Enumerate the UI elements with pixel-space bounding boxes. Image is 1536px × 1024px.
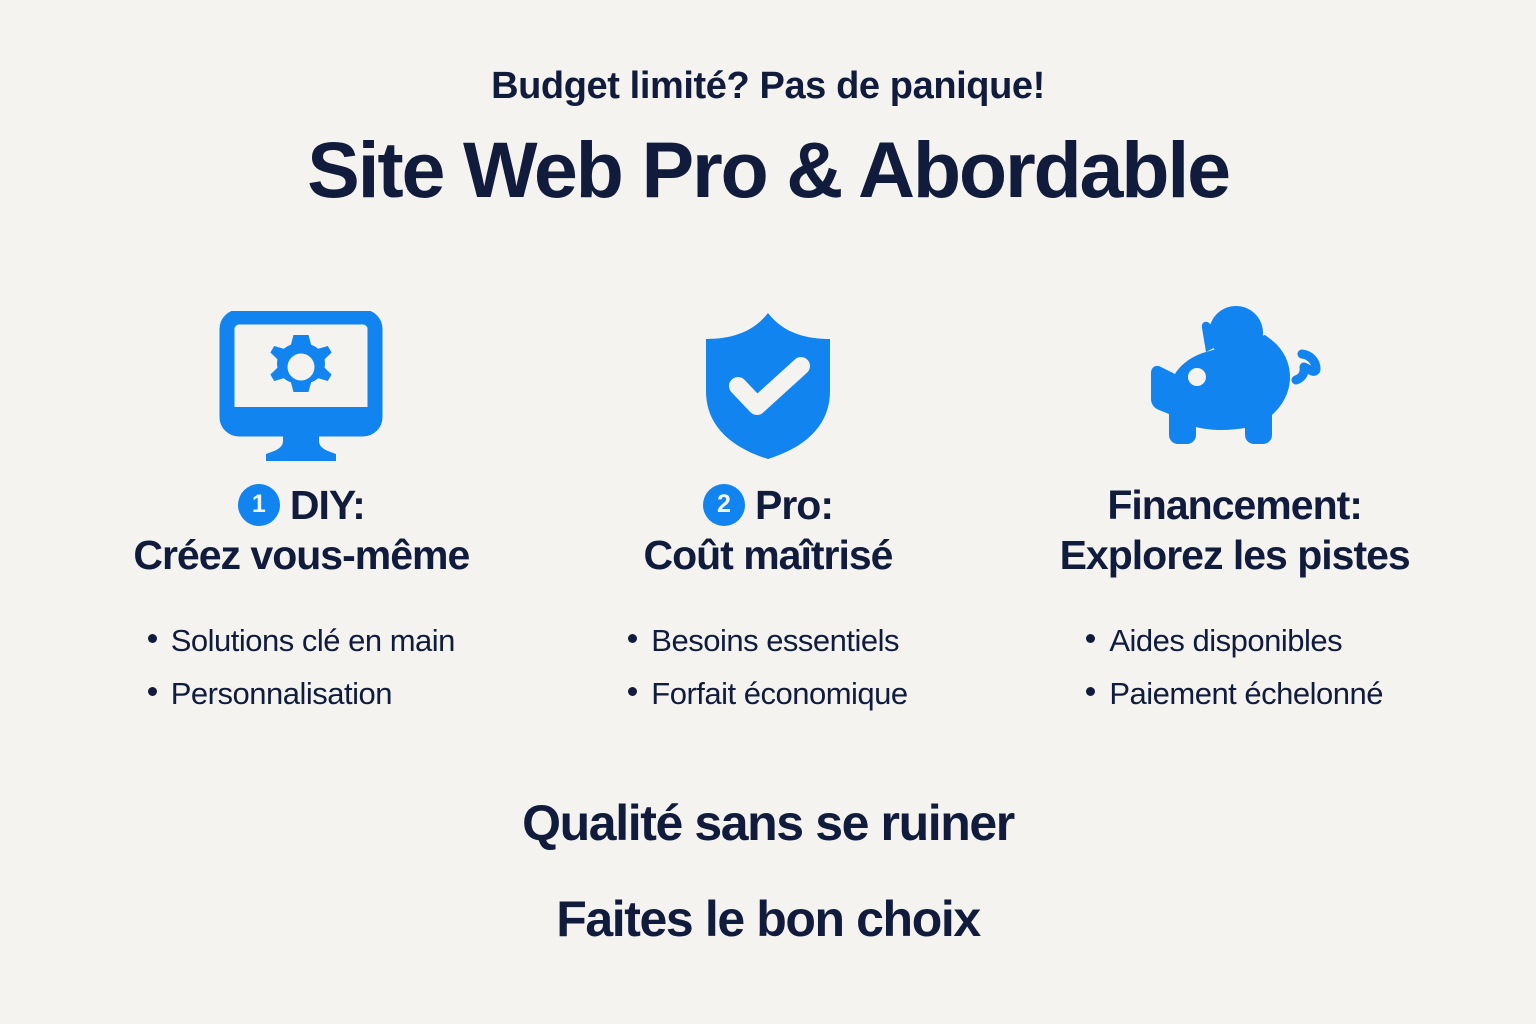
list-item-label: Personnalisation — [171, 667, 392, 720]
bullet-dot-icon — [1086, 634, 1095, 643]
page-title: Site Web Pro & Abordable — [307, 130, 1229, 209]
monitor-gear-icon — [219, 306, 383, 466]
shield-check-icon — [698, 306, 838, 466]
infographic-poster: Budget limité? Pas de panique! Site Web … — [0, 0, 1536, 1024]
column-title: Financement: — [1107, 480, 1362, 530]
feature-column-diy: 1 DIY: Créez vous-même Solutions clé en … — [68, 306, 535, 737]
step-badge-1: 1 — [238, 484, 280, 526]
bullet-dot-icon — [1086, 687, 1095, 696]
list-item-label: Forfait économique — [651, 667, 907, 720]
list-item-label: Solutions clé en main — [171, 614, 455, 667]
column-title: Pro: — [755, 480, 833, 530]
list-item-label: Paiement échelonné — [1109, 667, 1383, 720]
bullet-dot-icon — [628, 634, 637, 643]
bullet-dot-icon — [148, 634, 157, 643]
column-title: DIY: — [290, 480, 365, 530]
eyebrow-text: Budget limité? Pas de panique! — [491, 66, 1045, 108]
footer-line-2: Faites le bon choix — [522, 894, 1014, 944]
feature-list: Solutions clé en main Personnalisation — [148, 614, 455, 721]
piggy-bank-icon — [1144, 306, 1326, 466]
list-item-label: Aides disponibles — [1109, 614, 1342, 667]
list-item: Forfait économique — [628, 667, 907, 720]
list-item: Personnalisation — [148, 667, 455, 720]
bullet-dot-icon — [628, 687, 637, 696]
column-heading: 1 DIY: Créez vous-même — [133, 480, 469, 580]
column-subtitle: Explorez les pistes — [1060, 530, 1410, 580]
footer-line-1: Qualité sans se ruiner — [522, 798, 1014, 848]
list-item: Solutions clé en main — [148, 614, 455, 667]
column-subtitle: Créez vous-même — [133, 530, 469, 580]
feature-list: Aides disponibles Paiement échelonné — [1086, 614, 1383, 721]
list-item-label: Besoins essentiels — [651, 614, 899, 667]
column-heading: Financement: Explorez les pistes — [1060, 480, 1410, 580]
column-heading: 2 Pro: Coût maîtrisé — [643, 480, 892, 580]
list-item: Aides disponibles — [1086, 614, 1383, 667]
step-badge-2: 2 — [703, 484, 745, 526]
feature-column-financement: Financement: Explorez les pistes Aides d… — [1001, 306, 1468, 737]
footer-message: Qualité sans se ruiner Faites le bon cho… — [522, 798, 1014, 944]
list-item: Besoins essentiels — [628, 614, 907, 667]
bullet-dot-icon — [148, 687, 157, 696]
feature-column-pro: 2 Pro: Coût maîtrisé Besoins essentiels … — [535, 306, 1002, 737]
column-subtitle: Coût maîtrisé — [643, 530, 892, 580]
feature-columns: 1 DIY: Créez vous-même Solutions clé en … — [68, 306, 1468, 737]
feature-list: Besoins essentiels Forfait économique — [628, 614, 907, 721]
list-item: Paiement échelonné — [1086, 667, 1383, 720]
